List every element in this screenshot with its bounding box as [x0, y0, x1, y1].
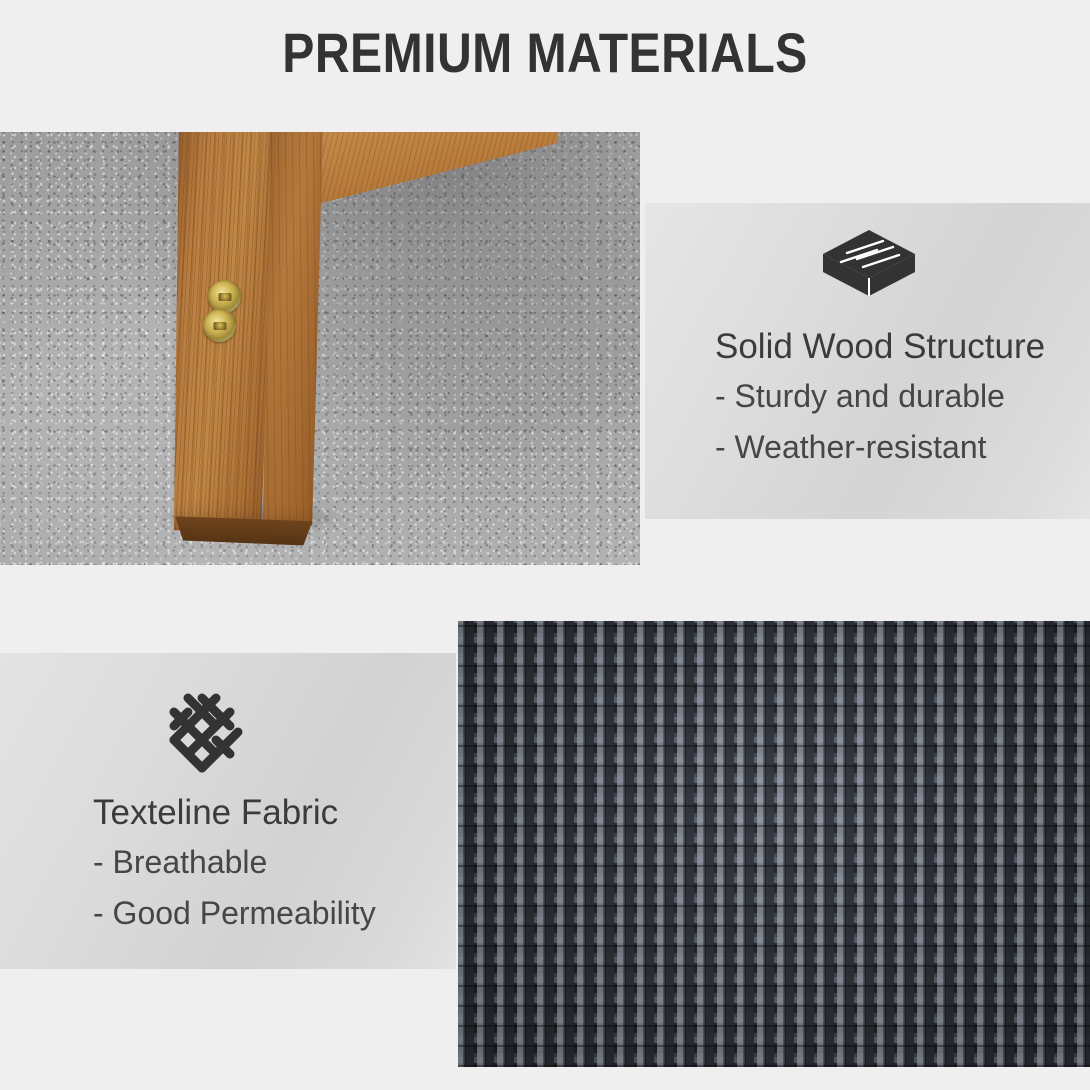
bullet-item: - Breathable — [93, 837, 376, 888]
feature-panel-texteline-fabric: Texteline Fabric - Breathable - Good Per… — [0, 653, 456, 969]
feature-heading-texteline-fabric: Texteline Fabric — [93, 793, 338, 833]
infographic-canvas: PREMIUM MATERIALS — [0, 0, 1090, 1090]
feature-bullets-solid-wood: - Sturdy and durable - Weather-resistant — [715, 371, 1005, 473]
feature-panel-solid-wood: Solid Wood Structure - Sturdy and durabl… — [645, 203, 1090, 519]
textilene-fabric-photo — [458, 621, 1090, 1067]
bullet-item: - Weather-resistant — [715, 422, 1005, 473]
wood-leg — [169, 132, 323, 534]
wood-planks-icon — [821, 228, 917, 306]
fabric-weave-texture — [458, 621, 1090, 1067]
wood-leg-photo — [0, 132, 640, 565]
feature-heading-solid-wood: Solid Wood Structure — [715, 327, 1045, 367]
woven-fabric-icon — [158, 688, 252, 782]
bullet-item: - Sturdy and durable — [715, 371, 1005, 422]
brass-screw-icon — [203, 309, 236, 342]
bullet-item: - Good Permeability — [93, 888, 376, 939]
brass-screw-icon — [208, 280, 241, 313]
page-title: PREMIUM MATERIALS — [76, 22, 1013, 84]
leg-side-face — [261, 132, 323, 534]
feature-bullets-texteline-fabric: - Breathable - Good Permeability — [93, 837, 376, 939]
